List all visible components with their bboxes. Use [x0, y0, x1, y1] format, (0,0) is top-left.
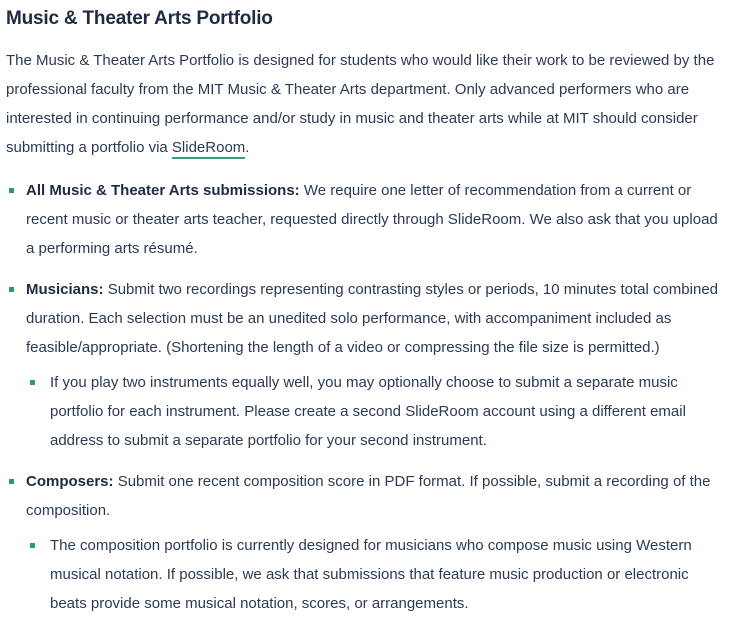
- page-title: Music & Theater Arts Portfolio: [6, 6, 725, 32]
- intro-text-before-link: The Music & Theater Arts Portfolio is de…: [6, 52, 714, 156]
- bullet-body-text: Submit two recordings representing contr…: [26, 281, 718, 356]
- bullet-body-text: Submit one recent composition score in P…: [26, 473, 710, 519]
- slideroom-link[interactable]: SlideRoom: [172, 139, 245, 159]
- bullet-marker-icon: [9, 287, 14, 292]
- bullet-lead-label: All Music & Theater Arts submissions:: [26, 182, 300, 199]
- list-item: Composers: Submit one recent composition…: [6, 467, 725, 618]
- intro-text-after-link: .: [245, 139, 249, 156]
- list-item: All Music & Theater Arts submissions: We…: [6, 176, 725, 263]
- sub-requirements-list: If you play two instruments equally well…: [26, 368, 725, 455]
- sub-bullet-marker-icon: [30, 543, 35, 548]
- bullet-lead-label: Composers:: [26, 473, 114, 490]
- bullet-marker-icon: [9, 188, 14, 193]
- sub-bullet-text: If you play two instruments equally well…: [50, 374, 686, 449]
- bullet-lead-label: Musicians:: [26, 281, 104, 298]
- bullet-marker-icon: [9, 479, 14, 484]
- sub-bullet-marker-icon: [30, 380, 35, 385]
- list-item: Musicians: Submit two recordings represe…: [6, 275, 725, 455]
- sub-bullet-text: The composition portfolio is currently d…: [50, 537, 692, 612]
- sub-list-item: The composition portfolio is currently d…: [28, 531, 725, 618]
- sub-list-item: If you play two instruments equally well…: [28, 368, 725, 455]
- intro-paragraph: The Music & Theater Arts Portfolio is de…: [6, 46, 722, 162]
- sub-requirements-list: The composition portfolio is currently d…: [26, 531, 725, 618]
- portfolio-content-page: Music & Theater Arts Portfolio The Music…: [0, 0, 743, 618]
- requirements-list: All Music & Theater Arts submissions: We…: [6, 176, 725, 618]
